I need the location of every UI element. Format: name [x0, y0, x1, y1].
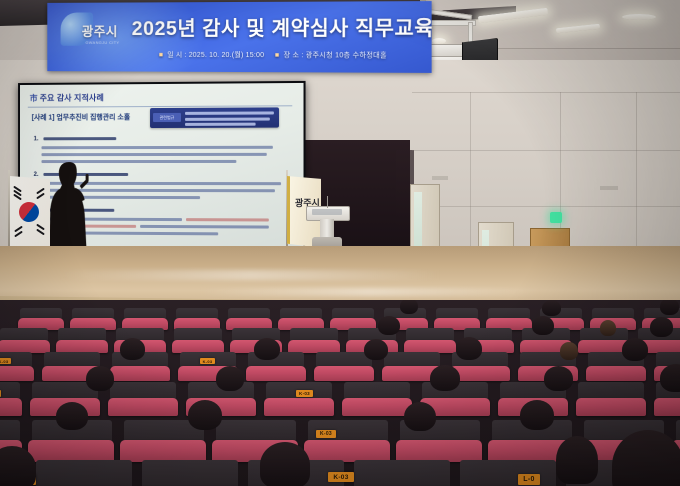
seat[interactable]	[314, 366, 374, 381]
banner-datetime-label: 일 시	[167, 52, 182, 59]
bullet-icon: ■	[275, 52, 279, 59]
audience-head	[216, 366, 244, 391]
callout-badge-label: 관련법규	[153, 113, 181, 122]
slide-body-line	[140, 225, 269, 229]
audience-head	[556, 436, 598, 484]
wall-vent	[600, 186, 618, 190]
audience-head	[86, 366, 114, 391]
audience-head	[430, 365, 460, 391]
seat[interactable]	[654, 398, 680, 416]
banner-datetime-value: 2025. 10. 20.(월) 15:00	[189, 52, 264, 59]
audience-head	[364, 339, 388, 360]
seat-label: K-03	[296, 390, 313, 397]
taeguk-symbol-icon	[16, 199, 42, 225]
callout-badge: 관련법규	[153, 113, 181, 122]
seat[interactable]	[396, 440, 482, 462]
stage-floor-reflection	[200, 288, 540, 296]
banner-subtitle: ■ 일 시 : 2025. 10. 20.(월) 15:00 ■ 장 소 : 광…	[122, 50, 424, 61]
slide-body-line-highlight	[186, 218, 269, 221]
audience-head	[660, 300, 679, 315]
audience-head	[120, 338, 145, 360]
seat-label: K-03	[0, 358, 11, 364]
audience-head	[56, 402, 88, 430]
door-glass-panel	[414, 192, 422, 246]
city-logo: 광주시 GWANGJU CITY	[61, 10, 130, 49]
wall-seam	[470, 92, 471, 252]
audience-head	[260, 442, 310, 486]
podium-microphone	[327, 196, 328, 208]
seat[interactable]	[0, 398, 22, 416]
audience-head	[520, 400, 554, 430]
wall-vent	[432, 176, 448, 180]
audience-head	[622, 338, 648, 361]
seat-back[interactable]	[36, 460, 132, 486]
slide-item-number: 2.	[34, 172, 39, 178]
callout-text-line	[185, 111, 274, 114]
korean-national-flag	[10, 176, 50, 254]
seat[interactable]	[342, 398, 412, 416]
audience-head	[400, 300, 418, 314]
wall-seam	[412, 206, 680, 207]
seat[interactable]	[28, 440, 114, 462]
audience-head	[542, 300, 561, 316]
seat-label: K-03	[316, 430, 336, 438]
slide-callout-box: 관련법규	[150, 107, 279, 128]
banner-place-value: 광주시청 10층 수하정대홀	[306, 52, 387, 59]
podium-nameplate	[312, 209, 342, 215]
seat-back[interactable]	[460, 460, 556, 486]
banner-title: 2025년 감사 및 계약심사 직무교육	[132, 11, 425, 41]
slide-header-text: 주요 감사 지적사례	[40, 93, 104, 102]
city-logo-text: 광주시	[82, 21, 118, 40]
seat-label: K-03	[328, 472, 354, 482]
audience-head	[544, 366, 573, 391]
seat[interactable]	[264, 398, 334, 416]
exit-sign	[550, 212, 562, 223]
audience-head	[560, 342, 578, 360]
slide-header: 市주요 감사 지적사례	[30, 92, 104, 103]
seat-back[interactable]	[354, 460, 450, 486]
slide-item-number: 1.	[34, 136, 39, 142]
banner-place-label: 장 소	[284, 52, 300, 59]
slide-surface: 市주요 감사 지적사례 [사례 1] 업무추진비 집행관리 소홀 관련법규 1.…	[20, 83, 304, 253]
seat[interactable]	[576, 398, 646, 416]
seat[interactable]	[108, 398, 178, 416]
wall-seam	[636, 92, 637, 252]
auditorium-seating: K-03 K-03	[0, 300, 680, 486]
podium-column	[320, 219, 334, 237]
auditorium-photo: 광주시 GWANGJU CITY 2025년 감사 및 계약심사 직무교육 ■ …	[0, 0, 680, 486]
seat[interactable]	[246, 366, 306, 381]
ceiling-downlight	[622, 14, 656, 20]
callout-text-line	[185, 123, 256, 126]
audience-head	[404, 402, 436, 431]
slide-header-mark: 市	[30, 94, 38, 103]
bullet-icon: ■	[159, 52, 163, 59]
seat-label: K-03	[0, 390, 1, 397]
wall-seam	[412, 150, 680, 151]
seat[interactable]	[120, 440, 206, 462]
seat[interactable]	[110, 366, 170, 381]
audience-head	[650, 317, 673, 337]
seat[interactable]	[0, 366, 34, 381]
seat-back[interactable]	[142, 460, 238, 486]
seat-label: K-03	[200, 358, 215, 364]
audience-head	[378, 316, 400, 335]
seat-label: L-0	[518, 474, 540, 485]
audience-head	[456, 337, 482, 360]
wall-seam	[412, 92, 680, 93]
slide-item-title	[43, 137, 116, 140]
slide-case-tag: [사례 1] 업무추진비 집행관리 소홀	[32, 112, 130, 122]
audience-head	[532, 316, 554, 335]
audience-head	[660, 364, 680, 392]
stage-floor-reflection	[60, 270, 440, 280]
city-logo-subtext: GWANGJU CITY	[85, 40, 119, 45]
audience-head	[254, 338, 280, 360]
callout-text-line	[185, 118, 270, 121]
presenter-silhouette	[47, 156, 94, 251]
audience-head	[600, 320, 616, 336]
slide-body-line	[41, 146, 272, 149]
projection-screen: 市주요 감사 지적사례 [사례 1] 업무추진비 집행관리 소홀 관련법규 1.…	[18, 81, 306, 255]
seat[interactable]	[586, 366, 646, 381]
seat[interactable]	[304, 440, 390, 462]
audience-head	[188, 400, 222, 430]
event-banner: 광주시 GWANGJU CITY 2025년 감사 및 계약심사 직무교육 ■ …	[47, 1, 431, 73]
ceiling-panel-seam	[470, 48, 680, 49]
